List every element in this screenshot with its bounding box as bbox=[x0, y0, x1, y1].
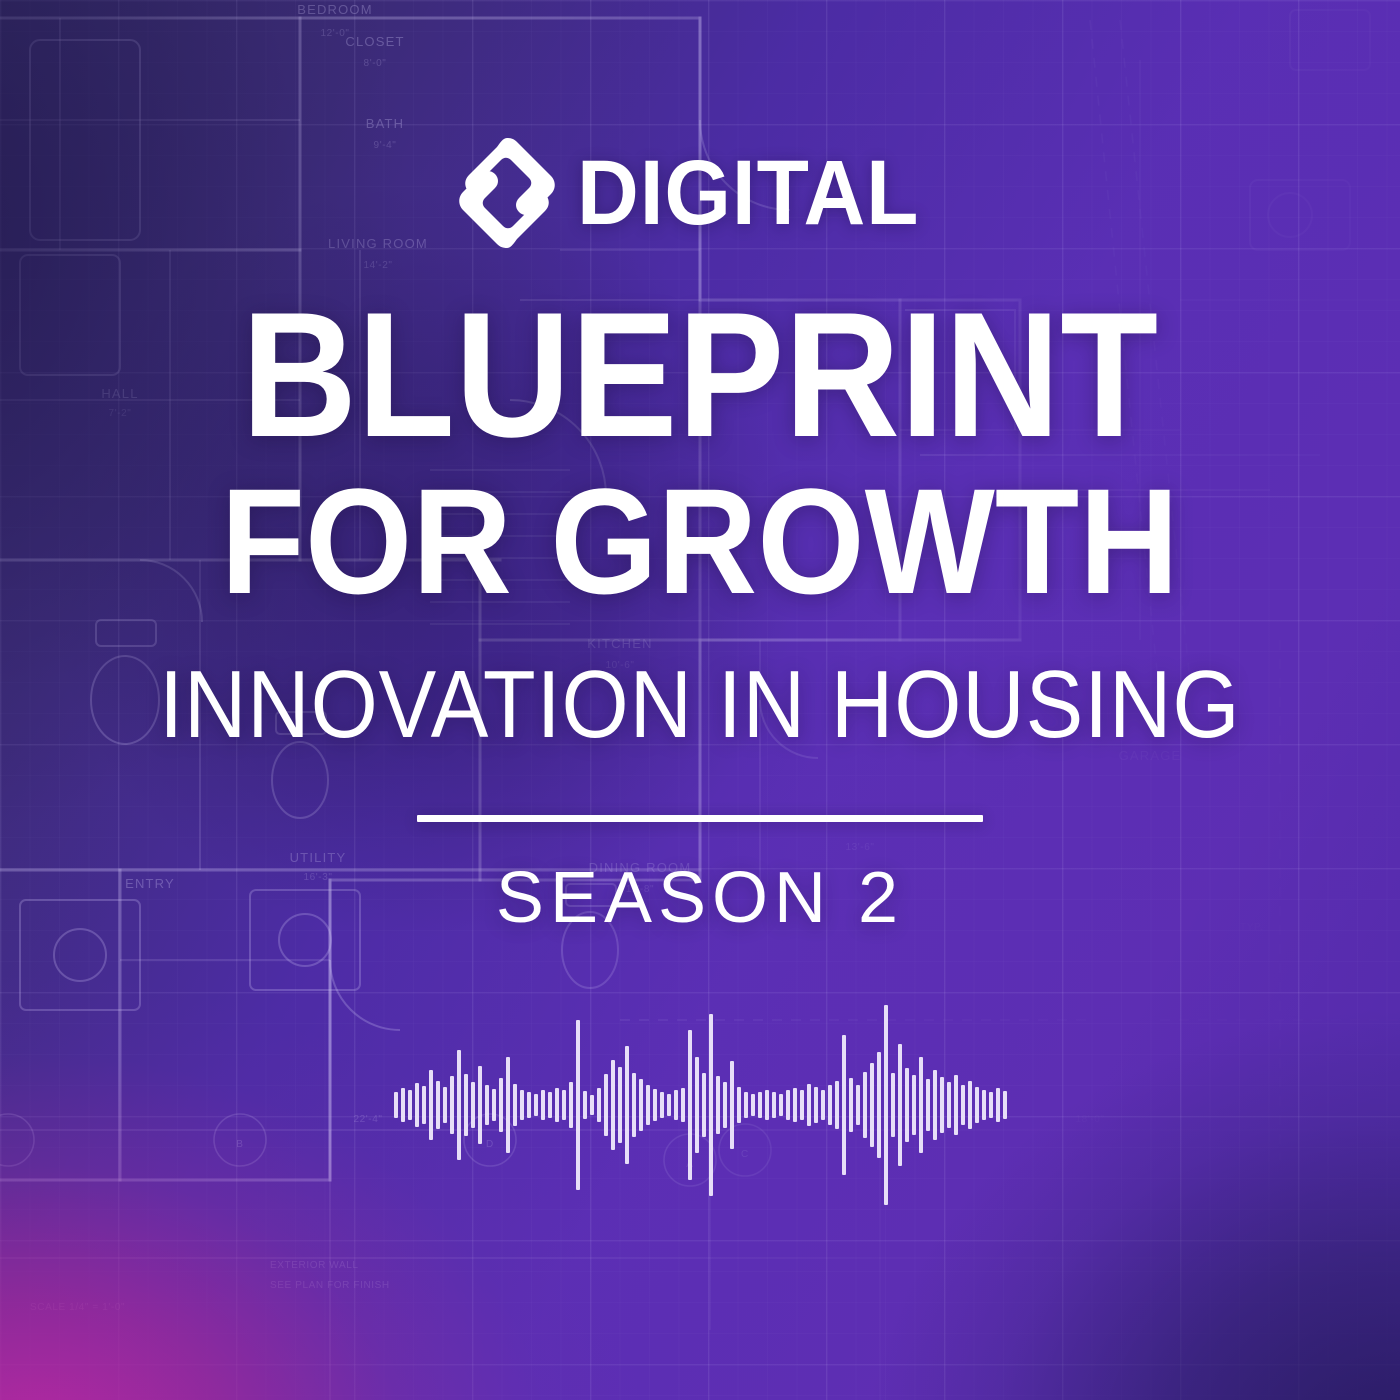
waveform-bar bbox=[800, 1090, 804, 1120]
waveform-bar bbox=[688, 1030, 692, 1180]
waveform-bar bbox=[436, 1081, 440, 1129]
waveform-bar bbox=[744, 1092, 748, 1118]
waveform-bar bbox=[926, 1079, 930, 1131]
waveform-bar bbox=[639, 1079, 643, 1131]
waveform-bar bbox=[667, 1094, 671, 1116]
waveform-bar bbox=[884, 1005, 888, 1205]
waveform-bar bbox=[716, 1076, 720, 1134]
waveform-bar bbox=[604, 1074, 608, 1136]
waveform-bar bbox=[772, 1092, 776, 1118]
waveform-bar bbox=[597, 1088, 601, 1122]
waveform-bar bbox=[541, 1090, 545, 1120]
waveform-bar bbox=[954, 1075, 958, 1135]
waveform-bar bbox=[835, 1081, 839, 1129]
waveform-bar bbox=[492, 1089, 496, 1121]
waveform-bar bbox=[996, 1088, 1000, 1122]
waveform-bar bbox=[415, 1083, 419, 1127]
waveform-bar bbox=[569, 1082, 573, 1128]
waveform-bar bbox=[877, 1052, 881, 1158]
subtitle: INNOVATION IN HOUSING bbox=[159, 657, 1240, 753]
waveform-bar bbox=[485, 1085, 489, 1125]
waveform-bar bbox=[849, 1078, 853, 1132]
waveform-bar bbox=[653, 1089, 657, 1121]
brand-wordmark: DIGITAL bbox=[577, 147, 919, 239]
s-diamond-logo-icon bbox=[455, 134, 559, 252]
waveform-bar bbox=[863, 1072, 867, 1138]
waveform-bar bbox=[611, 1060, 615, 1150]
waveform-bar bbox=[898, 1044, 902, 1166]
waveform-bar bbox=[737, 1087, 741, 1123]
waveform-bar bbox=[464, 1074, 468, 1136]
waveform-bar bbox=[527, 1092, 531, 1118]
waveform-bar bbox=[548, 1092, 552, 1118]
title-line-2: FOR GROWTH bbox=[221, 469, 1179, 613]
brand-lockup: DIGITAL bbox=[455, 134, 945, 252]
waveform-bar bbox=[751, 1094, 755, 1116]
waveform-bar bbox=[989, 1092, 993, 1118]
podcast-cover-art: B D A C BEDROOM CLOSET BATH LIVING ROOM … bbox=[0, 0, 1400, 1400]
waveform-bar bbox=[562, 1090, 566, 1120]
waveform-bar bbox=[394, 1092, 398, 1118]
waveform-bar bbox=[660, 1092, 664, 1118]
title-block: BLUEPRINT FOR GROWTH bbox=[179, 290, 1221, 613]
waveform-bar bbox=[618, 1067, 622, 1143]
waveform-bar bbox=[793, 1088, 797, 1122]
waveform-bar bbox=[940, 1077, 944, 1133]
waveform-bar bbox=[912, 1075, 916, 1135]
waveform-bar bbox=[786, 1090, 790, 1120]
waveform-bar bbox=[947, 1082, 951, 1128]
waveform-bar bbox=[520, 1090, 524, 1120]
waveform-bar bbox=[723, 1082, 727, 1128]
waveform-bar bbox=[478, 1066, 482, 1144]
waveform-bar bbox=[870, 1063, 874, 1147]
waveform-bar bbox=[583, 1091, 587, 1119]
waveform-bar bbox=[632, 1073, 636, 1137]
waveform-bar bbox=[975, 1087, 979, 1123]
waveform-bar bbox=[919, 1057, 923, 1153]
waveform-bar bbox=[730, 1061, 734, 1149]
waveform-bar bbox=[828, 1085, 832, 1125]
waveform-bar bbox=[695, 1057, 699, 1153]
waveform-bar bbox=[856, 1085, 860, 1125]
waveform-bar bbox=[506, 1057, 510, 1153]
waveform-bar bbox=[576, 1020, 580, 1190]
waveform-bar bbox=[758, 1092, 762, 1118]
waveform-bar bbox=[702, 1073, 706, 1137]
waveform-bar bbox=[905, 1068, 909, 1142]
waveform-bar bbox=[429, 1070, 433, 1140]
waveform-bar bbox=[422, 1086, 426, 1124]
waveform-bar bbox=[891, 1073, 895, 1137]
waveform-bar bbox=[513, 1084, 517, 1126]
waveform-bar bbox=[499, 1078, 503, 1132]
waveform-bar bbox=[457, 1050, 461, 1160]
audio-waveform-icon bbox=[510, 1000, 890, 1210]
waveform-bar bbox=[961, 1085, 965, 1125]
waveform-bar bbox=[471, 1082, 475, 1128]
waveform-bar bbox=[625, 1046, 629, 1164]
waveform-bar bbox=[807, 1084, 811, 1126]
waveform-bar bbox=[821, 1090, 825, 1120]
waveform-bar bbox=[842, 1035, 846, 1175]
cover-content: DIGITAL BLUEPRINT FOR GROWTH INNOVATION … bbox=[0, 0, 1400, 1400]
waveform-bar bbox=[779, 1094, 783, 1116]
season-label: SEASON 2 bbox=[496, 862, 904, 934]
waveform-bar bbox=[681, 1088, 685, 1122]
waveform-bar bbox=[982, 1090, 986, 1120]
waveform-bar bbox=[674, 1090, 678, 1120]
waveform-bar bbox=[450, 1076, 454, 1134]
waveform-bar bbox=[555, 1088, 559, 1122]
waveform-bar bbox=[1003, 1091, 1007, 1119]
waveform-bar bbox=[968, 1081, 972, 1129]
waveform-bar bbox=[534, 1094, 538, 1116]
waveform-bar bbox=[443, 1087, 447, 1123]
waveform-bar bbox=[765, 1090, 769, 1120]
title-line-1: BLUEPRINT bbox=[231, 290, 1168, 461]
waveform-bar bbox=[646, 1085, 650, 1125]
waveform-bar bbox=[590, 1095, 594, 1115]
waveform-bar bbox=[814, 1087, 818, 1123]
divider-rule bbox=[417, 815, 983, 822]
waveform-bar bbox=[709, 1014, 713, 1196]
waveform-bar bbox=[401, 1088, 405, 1122]
waveform-bar bbox=[408, 1090, 412, 1120]
waveform-bar bbox=[933, 1070, 937, 1140]
